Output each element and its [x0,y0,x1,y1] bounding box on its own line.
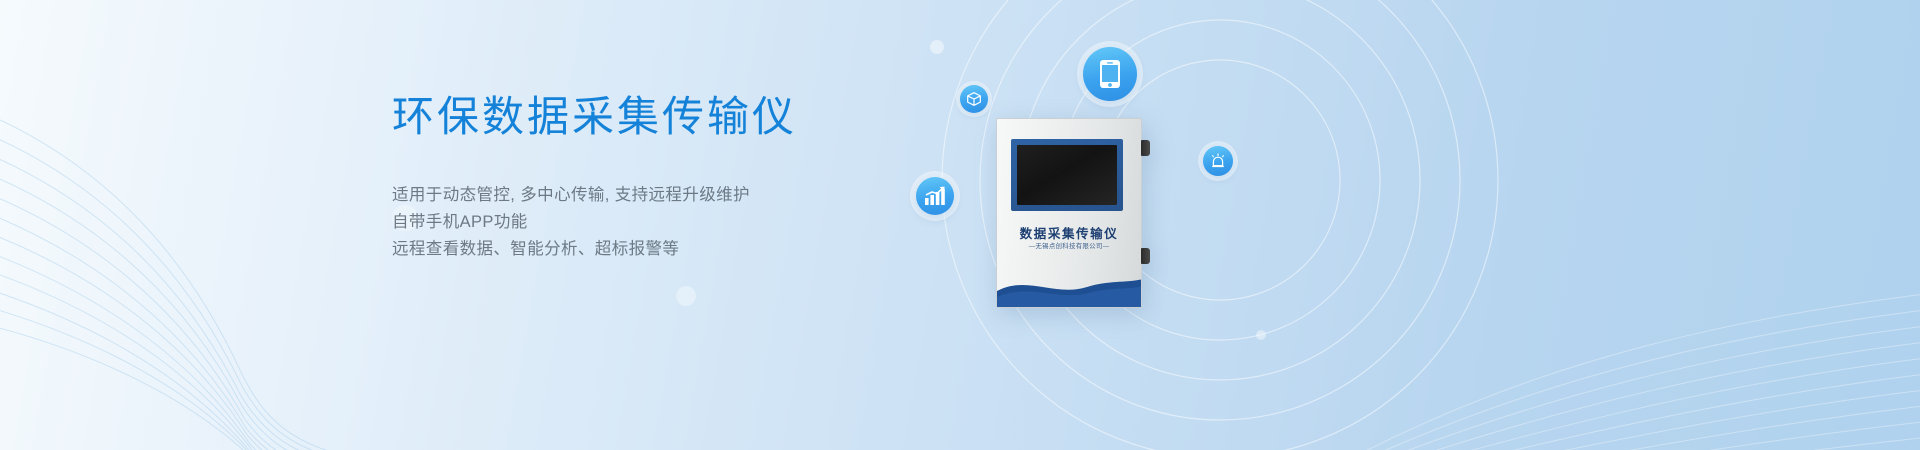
package-box-icon[interactable] [960,85,988,113]
alarm-light-icon[interactable] [1203,146,1233,176]
device-screen-bezel [1011,139,1123,211]
device-hinge [1141,248,1150,264]
device-cabinet: 数据采集传输仪 —无锡点创科技有限公司— [996,118,1142,308]
mobile-phone-icon[interactable] [1083,47,1137,101]
feature-line-2: 自带手机APP功能 [392,209,1012,236]
device-hinge [1141,140,1150,156]
decorative-flow-lines-right [1260,150,1920,450]
feature-line-3: 远程查看数据、智能分析、超标报警等 [392,236,1012,263]
decorative-bubble [1256,330,1266,340]
product-banner: 环保数据采集传输仪 适用于动态管控, 多中心传输, 支持远程升级维护 自带手机A… [0,0,1920,450]
device-brand-label: 数据采集传输仪 [997,223,1141,242]
device-display [1017,145,1117,205]
device-bottom-wave [997,267,1141,307]
page-title: 环保数据采集传输仪 [392,92,1012,142]
decorative-bubble [676,286,696,306]
data-acquisition-device-image: 数据采集传输仪 —无锡点创科技有限公司— [996,118,1142,308]
bar-chart-icon[interactable] [916,177,954,215]
device-company-label: —无锡点创科技有限公司— [1003,241,1135,250]
decorative-bubble [930,40,944,54]
banner-text-block: 环保数据采集传输仪 适用于动态管控, 多中心传输, 支持远程升级维护 自带手机A… [392,92,1012,263]
